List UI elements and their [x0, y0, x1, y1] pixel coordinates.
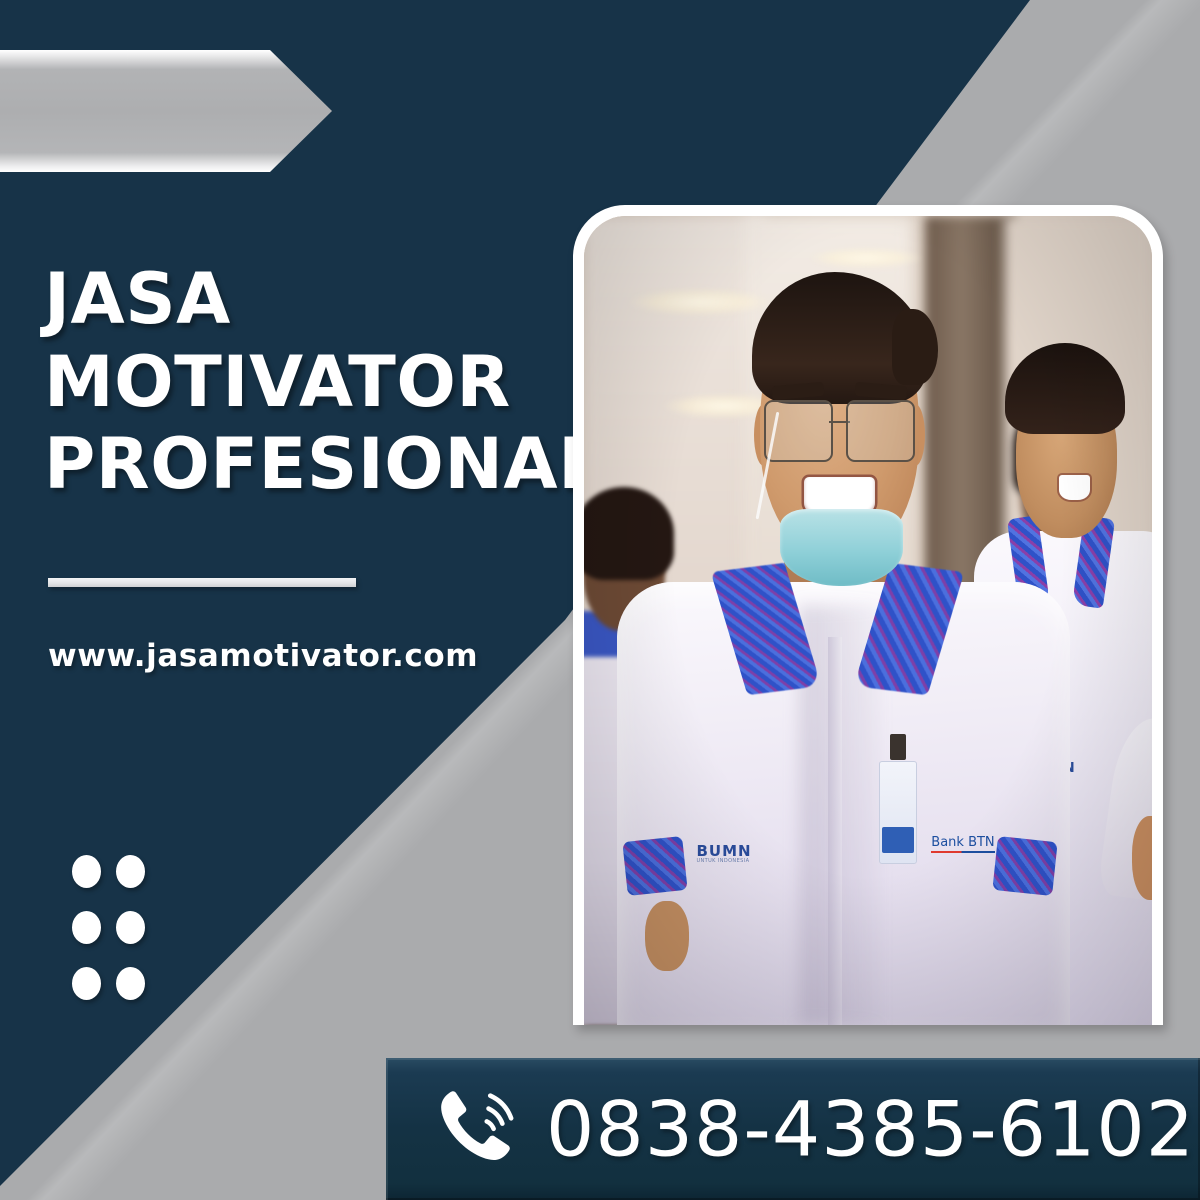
- photo-card: BUMN: [573, 205, 1163, 1025]
- dot: [116, 855, 145, 888]
- headline-line-3: PROFESIONAL: [44, 423, 564, 506]
- subject-hand-left: [645, 901, 689, 971]
- subject-shirt-placket: [828, 637, 842, 1025]
- bumn-tagline: UNTUK INDONESIA: [696, 858, 751, 864]
- headline-line-1: JASA: [44, 258, 564, 341]
- shirt-logo-bumn: BUMN UNTUK INDONESIA: [696, 842, 751, 864]
- title-divider: [48, 578, 356, 587]
- phone-ringing-icon: [434, 1086, 526, 1172]
- main-subject: BUMN UNTUK INDONESIA Bank BTN: [641, 248, 1039, 1025]
- dot: [116, 911, 145, 944]
- badge-strip: [882, 827, 913, 853]
- badge-clip: [890, 734, 906, 760]
- page-title: JASA MOTIVATOR PROFESIONAL: [44, 258, 564, 506]
- glasses-lens-right: [846, 400, 915, 462]
- dot: [116, 967, 145, 1000]
- eyeglasses-icon: [764, 400, 915, 458]
- phone-number[interactable]: 0838-4385-6102: [546, 1085, 1195, 1174]
- dot: [72, 967, 101, 1000]
- subject-sleeve-cuff-left: [622, 836, 687, 896]
- id-badge: [879, 761, 917, 864]
- decorative-dot-grid: [72, 855, 150, 1023]
- dot: [72, 911, 101, 944]
- subject-sleeve-cuff-right: [992, 836, 1057, 896]
- bank-btn-wordmark: Bank BTN: [931, 835, 994, 850]
- arrow-banner: [0, 50, 332, 172]
- subject-hair: [752, 272, 927, 404]
- face-mask-icon: [780, 509, 903, 587]
- promotional-poster: JASA MOTIVATOR PROFESIONAL www.jasamotiv…: [0, 0, 1200, 1200]
- shirt-logo-bank-btn: Bank BTN: [931, 835, 994, 853]
- website-url[interactable]: www.jasamotivator.com: [48, 638, 478, 674]
- person-smile: [1059, 475, 1090, 500]
- contact-bar[interactable]: 0838-4385-6102: [386, 1058, 1200, 1200]
- dot: [72, 855, 101, 888]
- photo-image: BUMN: [584, 216, 1152, 1025]
- bank-btn-underline: [931, 851, 994, 853]
- headline-line-2: MOTIVATOR: [44, 341, 564, 424]
